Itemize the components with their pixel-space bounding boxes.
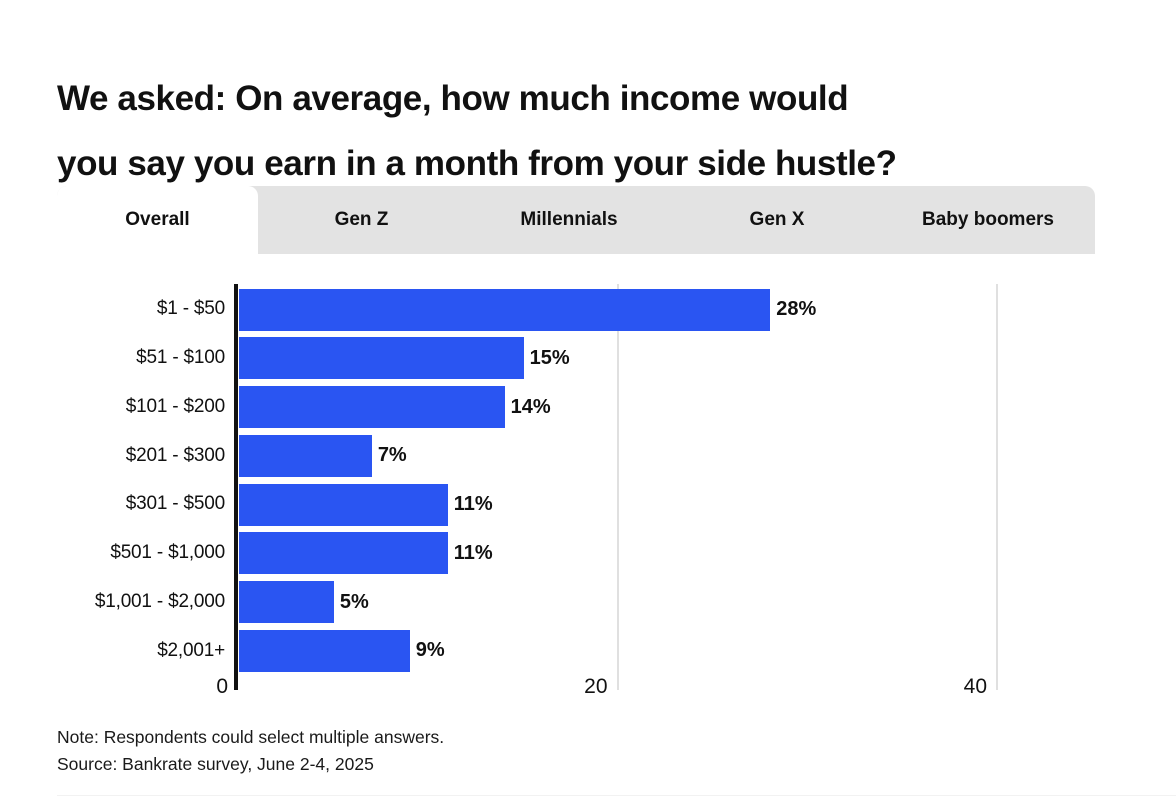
tab-overall-label: Overall	[125, 209, 189, 231]
category-label: $101 - $200	[0, 396, 225, 418]
bar-row: $1 - $5028%	[0, 285, 1176, 334]
bar-container: 11%	[239, 484, 493, 526]
bar-container: 7%	[239, 435, 407, 477]
tab-gen-z[interactable]: Gen Z	[258, 186, 465, 254]
category-label: $1,001 - $2,000	[0, 591, 225, 613]
bar[interactable]	[239, 484, 448, 526]
x-tick-label-40: 40	[964, 675, 996, 699]
bar-row: $101 - $20014%	[0, 383, 1176, 432]
source-text: Source: Bankrate survey, June 2-4, 2025	[57, 751, 444, 778]
bar-value-label: 7%	[378, 444, 407, 467]
bar-container: 15%	[239, 337, 570, 379]
category-label: $51 - $100	[0, 347, 225, 369]
bar[interactable]	[239, 581, 334, 623]
bar-container: 9%	[239, 630, 445, 672]
bar-value-label: 14%	[511, 396, 551, 419]
tab-baby-boomers-label: Baby boomers	[922, 209, 1054, 231]
tab-overall[interactable]: Overall	[57, 186, 258, 254]
note-text: Note: Respondents could select multiple …	[57, 724, 444, 751]
page-title: We asked: On average, how much income wo…	[57, 67, 1077, 197]
bar-row: $201 - $3007%	[0, 431, 1176, 480]
bar-rows: $1 - $5028%$51 - $10015%$101 - $20014%$2…	[0, 285, 1176, 675]
bar-row: $301 - $50011%	[0, 480, 1176, 529]
tab-gen-x-label: Gen X	[750, 209, 805, 231]
category-label: $2,001+	[0, 640, 225, 662]
x-tick-label-0: 0	[216, 675, 237, 699]
bar[interactable]	[239, 630, 410, 672]
chart-page: We asked: On average, how much income wo…	[0, 0, 1176, 796]
bar-container: 5%	[239, 581, 369, 623]
bar[interactable]	[239, 289, 770, 331]
bar-value-label: 11%	[454, 542, 493, 565]
category-label: $301 - $500	[0, 493, 225, 515]
bar-row: $2,001+9%	[0, 626, 1176, 675]
x-tick-label-20: 20	[584, 675, 616, 699]
bar-container: 28%	[239, 289, 816, 331]
bar-row: $1,001 - $2,0005%	[0, 578, 1176, 627]
x-axis-ticks: 02040	[0, 675, 1176, 715]
category-label: $201 - $300	[0, 445, 225, 467]
bar-value-label: 5%	[340, 591, 369, 614]
chart-footnotes: Note: Respondents could select multiple …	[57, 724, 444, 778]
bar-container: 11%	[239, 532, 493, 574]
bar-value-label: 28%	[776, 298, 816, 321]
tab-baby-boomers[interactable]: Baby boomers	[881, 186, 1095, 254]
bar-value-label: 11%	[454, 493, 493, 516]
bar-value-label: 9%	[416, 639, 445, 662]
tab-gen-x[interactable]: Gen X	[673, 186, 881, 254]
bar[interactable]	[239, 435, 372, 477]
tab-bar: Overall Gen Z Millennials Gen X Baby boo…	[57, 186, 1095, 254]
page-title-line-1: We asked: On average, how much income wo…	[57, 67, 1077, 132]
category-label: $501 - $1,000	[0, 542, 225, 564]
bar-chart: $1 - $5028%$51 - $10015%$101 - $20014%$2…	[0, 270, 1176, 700]
category-label: $1 - $50	[0, 298, 225, 320]
bar[interactable]	[239, 532, 448, 574]
bar[interactable]	[239, 337, 524, 379]
bar-row: $51 - $10015%	[0, 334, 1176, 383]
bar-value-label: 15%	[530, 347, 570, 370]
tab-millennials[interactable]: Millennials	[465, 186, 673, 254]
bar[interactable]	[239, 386, 505, 428]
tab-gen-z-label: Gen Z	[335, 209, 389, 231]
bar-row: $501 - $1,00011%	[0, 529, 1176, 578]
tab-millennials-label: Millennials	[520, 209, 617, 231]
bar-container: 14%	[239, 386, 551, 428]
